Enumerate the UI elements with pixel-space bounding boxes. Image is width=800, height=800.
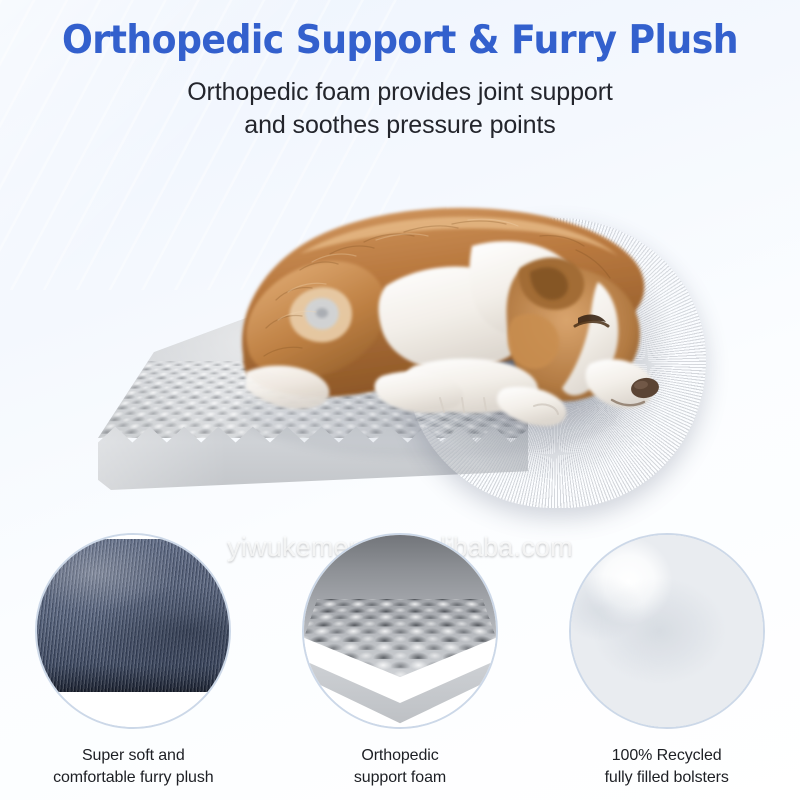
header: Orthopedic Support & Furry Plush Orthope… [0, 0, 800, 142]
feature-image-circle [35, 533, 231, 729]
feature-recycled-fill: 100% Recycled fully filled bolsters [533, 533, 800, 800]
plush-swatch-surface [35, 539, 231, 693]
feature-row: Super soft and comfortable furry plush O… [0, 533, 800, 800]
page-subtitle-line-2: and soothes pressure points [0, 109, 800, 142]
feature-caption: Super soft and comfortable furry plush [53, 745, 213, 789]
feature-caption-line-2: fully filled bolsters [605, 767, 729, 789]
foam-swatch-icon [304, 535, 496, 727]
feature-caption-line-1: 100% Recycled [605, 745, 729, 767]
hero-product-image: yiwukemeng.en.alibaba.com [0, 150, 800, 525]
feature-image-circle [302, 533, 498, 729]
page-title: Orthopedic Support & Furry Plush [28, 0, 772, 64]
feature-caption-line-2: support foam [354, 767, 446, 789]
sleeping-dog-illustration [0, 150, 800, 525]
foam-swatch-surface [302, 533, 498, 677]
plush-swatch-icon [37, 535, 229, 727]
feature-caption: Orthopedic support foam [354, 745, 446, 789]
fiberfill-swatch-icon [571, 535, 763, 727]
feature-caption-line-2: comfortable furry plush [53, 767, 213, 789]
product-feature-page: Orthopedic Support & Furry Plush Orthope… [0, 0, 800, 800]
page-subtitle: Orthopedic foam provides joint support a… [0, 64, 800, 142]
page-subtitle-line-1: Orthopedic foam provides joint support [0, 76, 800, 109]
feature-caption: 100% Recycled fully filled bolsters [605, 745, 729, 789]
feature-support-foam: Orthopedic support foam [267, 533, 534, 800]
feature-caption-line-1: Super soft and [53, 745, 213, 767]
feature-image-circle [569, 533, 765, 729]
feature-furry-plush: Super soft and comfortable furry plush [0, 533, 267, 800]
feature-caption-line-1: Orthopedic [354, 745, 446, 767]
